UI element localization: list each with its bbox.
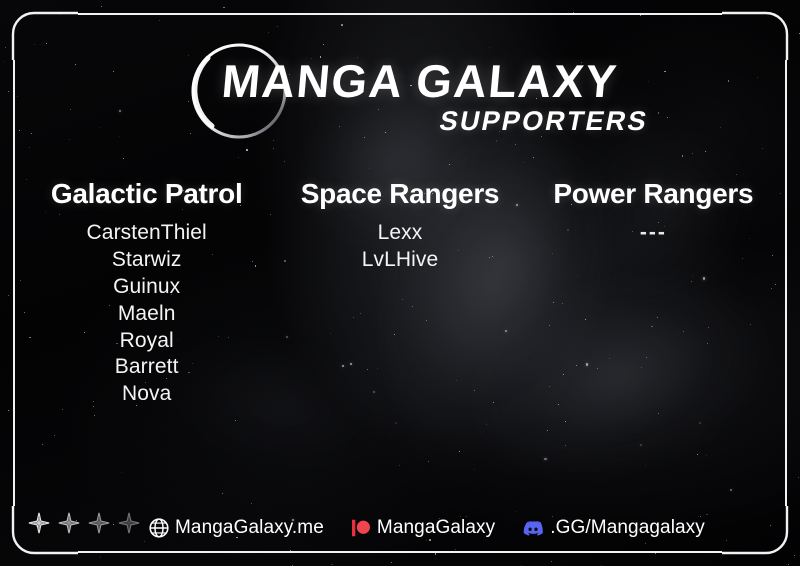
sparkle-icon xyxy=(58,512,80,534)
supporter-name: Guinux xyxy=(20,274,273,301)
supporter-name: CarstenThiel xyxy=(20,220,273,247)
globe-icon xyxy=(148,517,170,539)
header: MANGA GALAXY SUPPORTERS xyxy=(0,14,800,144)
footer: MangaGalaxy.me MangaGalaxy .GG/Mangagala… xyxy=(0,508,800,548)
link-label: .GG/Mangagalaxy xyxy=(550,517,705,539)
sparkle-icon xyxy=(88,512,110,534)
page-title: MANGA GALAXY xyxy=(220,58,654,104)
link-label: MangaGalaxy xyxy=(377,517,495,539)
supporter-name: Lexx xyxy=(273,220,526,247)
tier-column-space-rangers: Space Rangers Lexx LvLHive xyxy=(273,178,526,274)
supporter-name: Royal xyxy=(20,328,273,355)
tier-column-galactic-patrol: Galactic Patrol CarstenThiel Starwiz Gui… xyxy=(20,178,273,408)
supporter-name: Nova xyxy=(20,381,273,408)
tier-title: Power Rangers xyxy=(527,178,780,210)
link-label: MangaGalaxy.me xyxy=(175,517,324,539)
tier-title: Galactic Patrol xyxy=(20,178,273,210)
tier-title: Space Rangers xyxy=(273,178,526,210)
tier-name-list: --- xyxy=(527,220,780,247)
footer-links: MangaGalaxy.me MangaGalaxy .GG/Mangagala… xyxy=(148,508,784,548)
tier-column-power-rangers: Power Rangers --- xyxy=(527,178,780,247)
discord-icon xyxy=(521,516,545,540)
link-discord[interactable]: .GG/Mangagalaxy xyxy=(521,516,705,540)
supporter-name: LvLHive xyxy=(273,247,526,274)
brand-title-block: MANGA GALAXY SUPPORTERS xyxy=(222,58,652,135)
link-website[interactable]: MangaGalaxy.me xyxy=(148,517,324,539)
supporter-name: Maeln xyxy=(20,301,273,328)
link-patreon[interactable]: MangaGalaxy xyxy=(350,517,495,539)
supporter-name: Starwiz xyxy=(20,247,273,274)
tier-name-list: CarstenThiel Starwiz Guinux Maeln Royal … xyxy=(20,220,273,408)
supporter-name: Barrett xyxy=(20,354,273,381)
tier-name-list: Lexx LvLHive xyxy=(273,220,526,274)
tier-empty-placeholder: --- xyxy=(527,220,780,247)
supporter-tiers: Galactic Patrol CarstenThiel Starwiz Gui… xyxy=(20,178,780,408)
patreon-icon xyxy=(350,517,372,539)
sparkle-decorations xyxy=(28,512,140,534)
page-subtitle: SUPPORTERS xyxy=(219,108,654,135)
sparkle-icon xyxy=(28,512,50,534)
supporters-card: MANGA GALAXY SUPPORTERS Galactic Patrol … xyxy=(0,0,800,566)
sparkle-icon xyxy=(118,512,140,534)
